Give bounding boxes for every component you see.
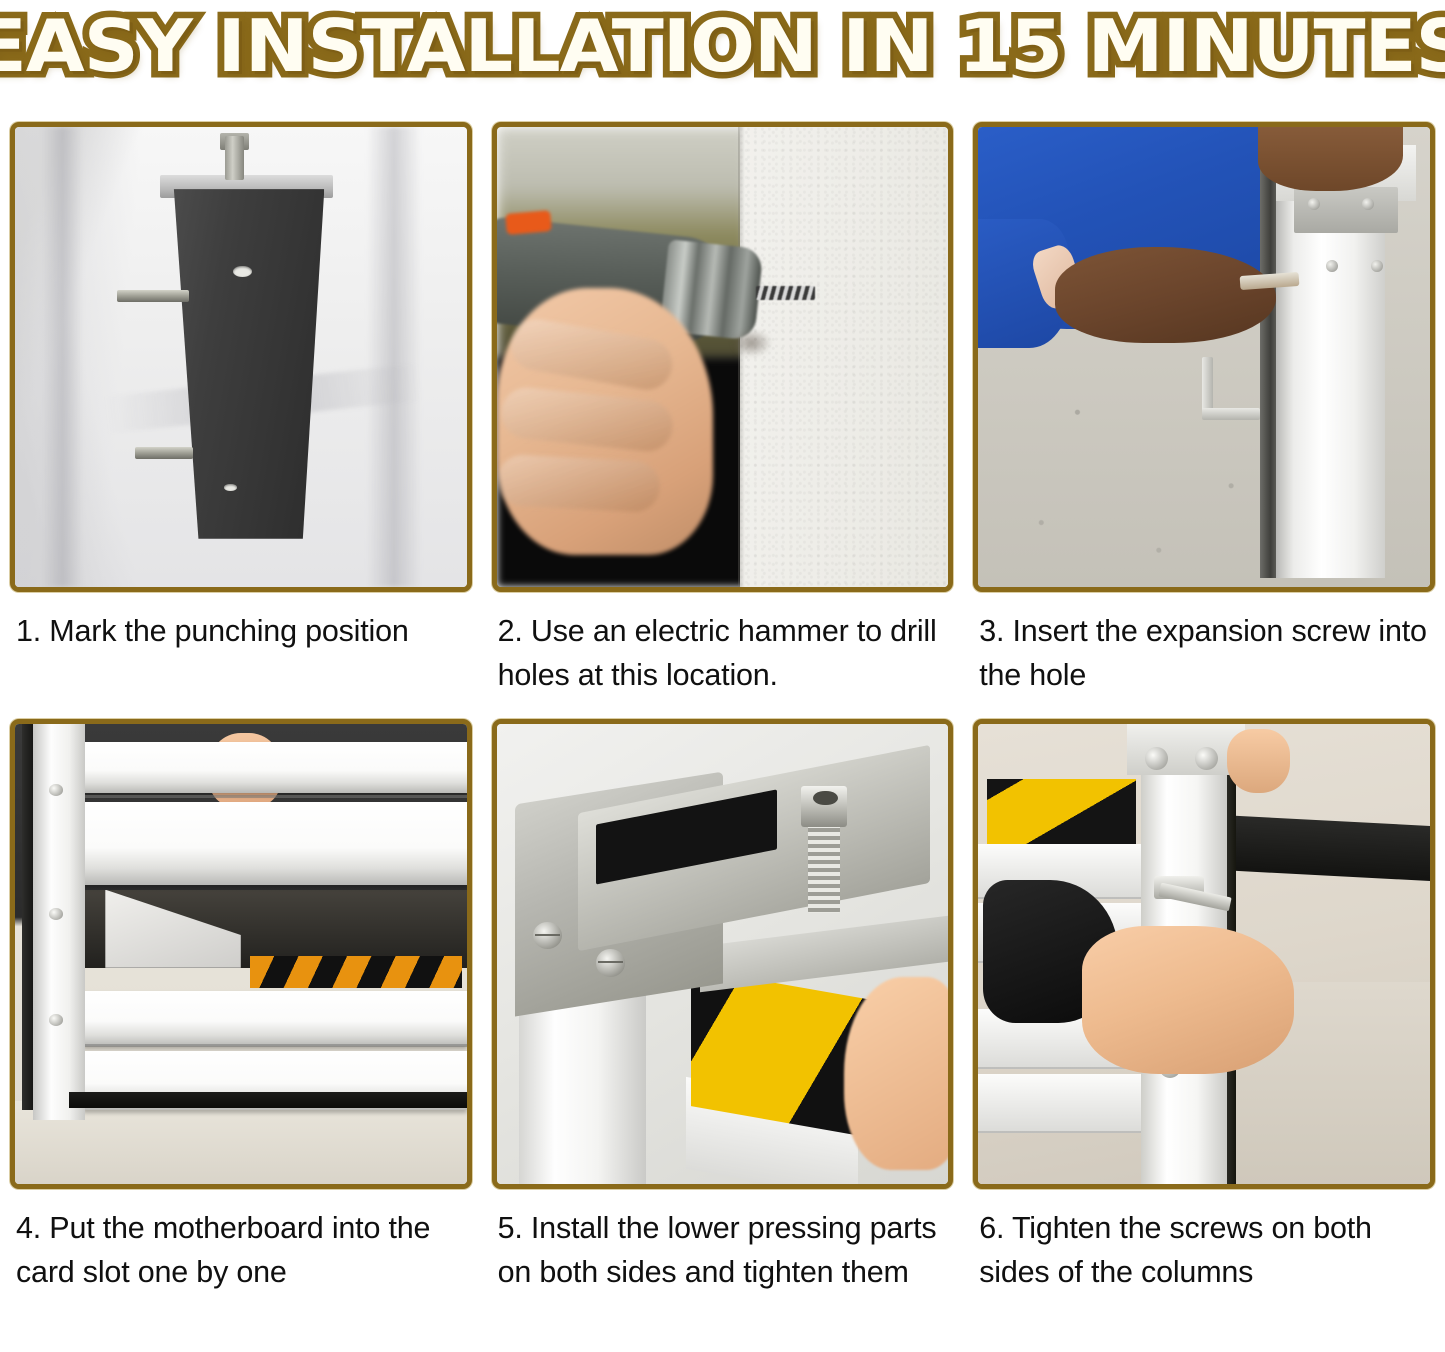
- operator-second-hand: [1227, 729, 1290, 793]
- protruding-bolt-upper: [117, 290, 189, 302]
- step-caption-1: 1. Mark the punching position: [10, 609, 472, 653]
- step-card-3: 3. Insert the expansion screw into the h…: [963, 122, 1445, 697]
- allen-wrench-short-arm: [1202, 408, 1261, 420]
- step-caption-5: 5. Install the lower pressing parts on b…: [492, 1206, 954, 1294]
- drill-trigger: [505, 210, 552, 235]
- steps-grid: 1. Mark the punching position: [0, 122, 1445, 1294]
- drill-dust: [731, 329, 772, 357]
- step-image-frame-1: [10, 122, 472, 592]
- screw-slot: [598, 961, 623, 963]
- installation-guide-infographic: EASY INSTALLATION IN 15 MINUTES: [0, 0, 1445, 1352]
- hazard-stripe-board: [250, 956, 462, 988]
- step-image-frame-2: [492, 122, 954, 592]
- step-caption-6: 6. Tighten the screws on both sides of t…: [973, 1206, 1435, 1294]
- board-seam: [83, 795, 467, 798]
- step-image-frame-4: [10, 719, 472, 1189]
- masonry-drill-bit: [756, 286, 815, 301]
- board-seam: [83, 1044, 467, 1047]
- step-photo-4: [15, 724, 467, 1184]
- column-top-screw: [1195, 747, 1218, 770]
- barrier-board: [83, 742, 467, 793]
- step-photo-5: [497, 724, 949, 1184]
- step-image-frame-5: [492, 719, 954, 1189]
- step-card-5: 5. Install the lower pressing parts on b…: [482, 719, 964, 1294]
- step-image-frame-3: [973, 122, 1435, 592]
- operator-hand: [1082, 926, 1294, 1073]
- column-screw: [49, 784, 63, 796]
- step-photo-2: [497, 127, 949, 587]
- protruding-bolt-lower: [135, 447, 194, 459]
- plate-screw: [1308, 198, 1320, 210]
- finger: [497, 454, 661, 513]
- step-caption-4: 4. Put the motherboard into the card slo…: [10, 1206, 472, 1294]
- step-photo-6: [978, 724, 1430, 1184]
- screw-slot: [535, 934, 560, 936]
- barrier-board: [83, 802, 467, 885]
- column-top-screw: [1145, 747, 1168, 770]
- step-photo-1: [15, 127, 467, 587]
- step-card-6: 6. Tighten the screws on both sides of t…: [963, 719, 1445, 1294]
- hazard-stripe-board: [987, 779, 1136, 843]
- hex-bolt-thread: [808, 816, 840, 913]
- step-card-4: 4. Put the motherboard into the card slo…: [0, 719, 482, 1294]
- header-banner: EASY INSTALLATION IN 15 MINUTES: [0, 0, 1445, 92]
- steps-row-top: 1. Mark the punching position: [0, 122, 1445, 697]
- cloth-fold: [367, 127, 421, 587]
- dark-baseboard: [1230, 815, 1430, 881]
- step-card-2: 2. Use an electric hammer to drill holes…: [482, 122, 964, 697]
- plate-screw: [1326, 260, 1338, 272]
- column-mounting-plate: [1294, 187, 1398, 233]
- textured-wall: [740, 127, 948, 587]
- plate-screw: [1362, 198, 1374, 210]
- steps-row-bottom: 4. Put the motherboard into the card slo…: [0, 719, 1445, 1294]
- threaded-stud: [225, 136, 244, 180]
- step-caption-3: 3. Insert the expansion screw into the h…: [973, 609, 1435, 697]
- barrier-board: [83, 991, 467, 1046]
- floor-seal-strip: [69, 1092, 466, 1108]
- step-card-1: 1. Mark the punching position: [0, 122, 482, 697]
- hex-socket: [813, 791, 838, 806]
- operator-fingers: [844, 977, 948, 1170]
- step-photo-3: [978, 127, 1430, 587]
- step-caption-2: 2. Use an electric hammer to drill holes…: [492, 609, 954, 697]
- wall-edge-shadow: [738, 127, 745, 587]
- barrier-board: [978, 1074, 1141, 1134]
- operator-arm: [1055, 247, 1276, 344]
- column-screw: [49, 1014, 63, 1026]
- cloth-fold: [42, 127, 83, 587]
- page-title: EASY INSTALLATION IN 15 MINUTES: [0, 10, 1445, 82]
- step-image-frame-6: [973, 719, 1435, 1189]
- white-column-with-slots: [33, 724, 85, 1120]
